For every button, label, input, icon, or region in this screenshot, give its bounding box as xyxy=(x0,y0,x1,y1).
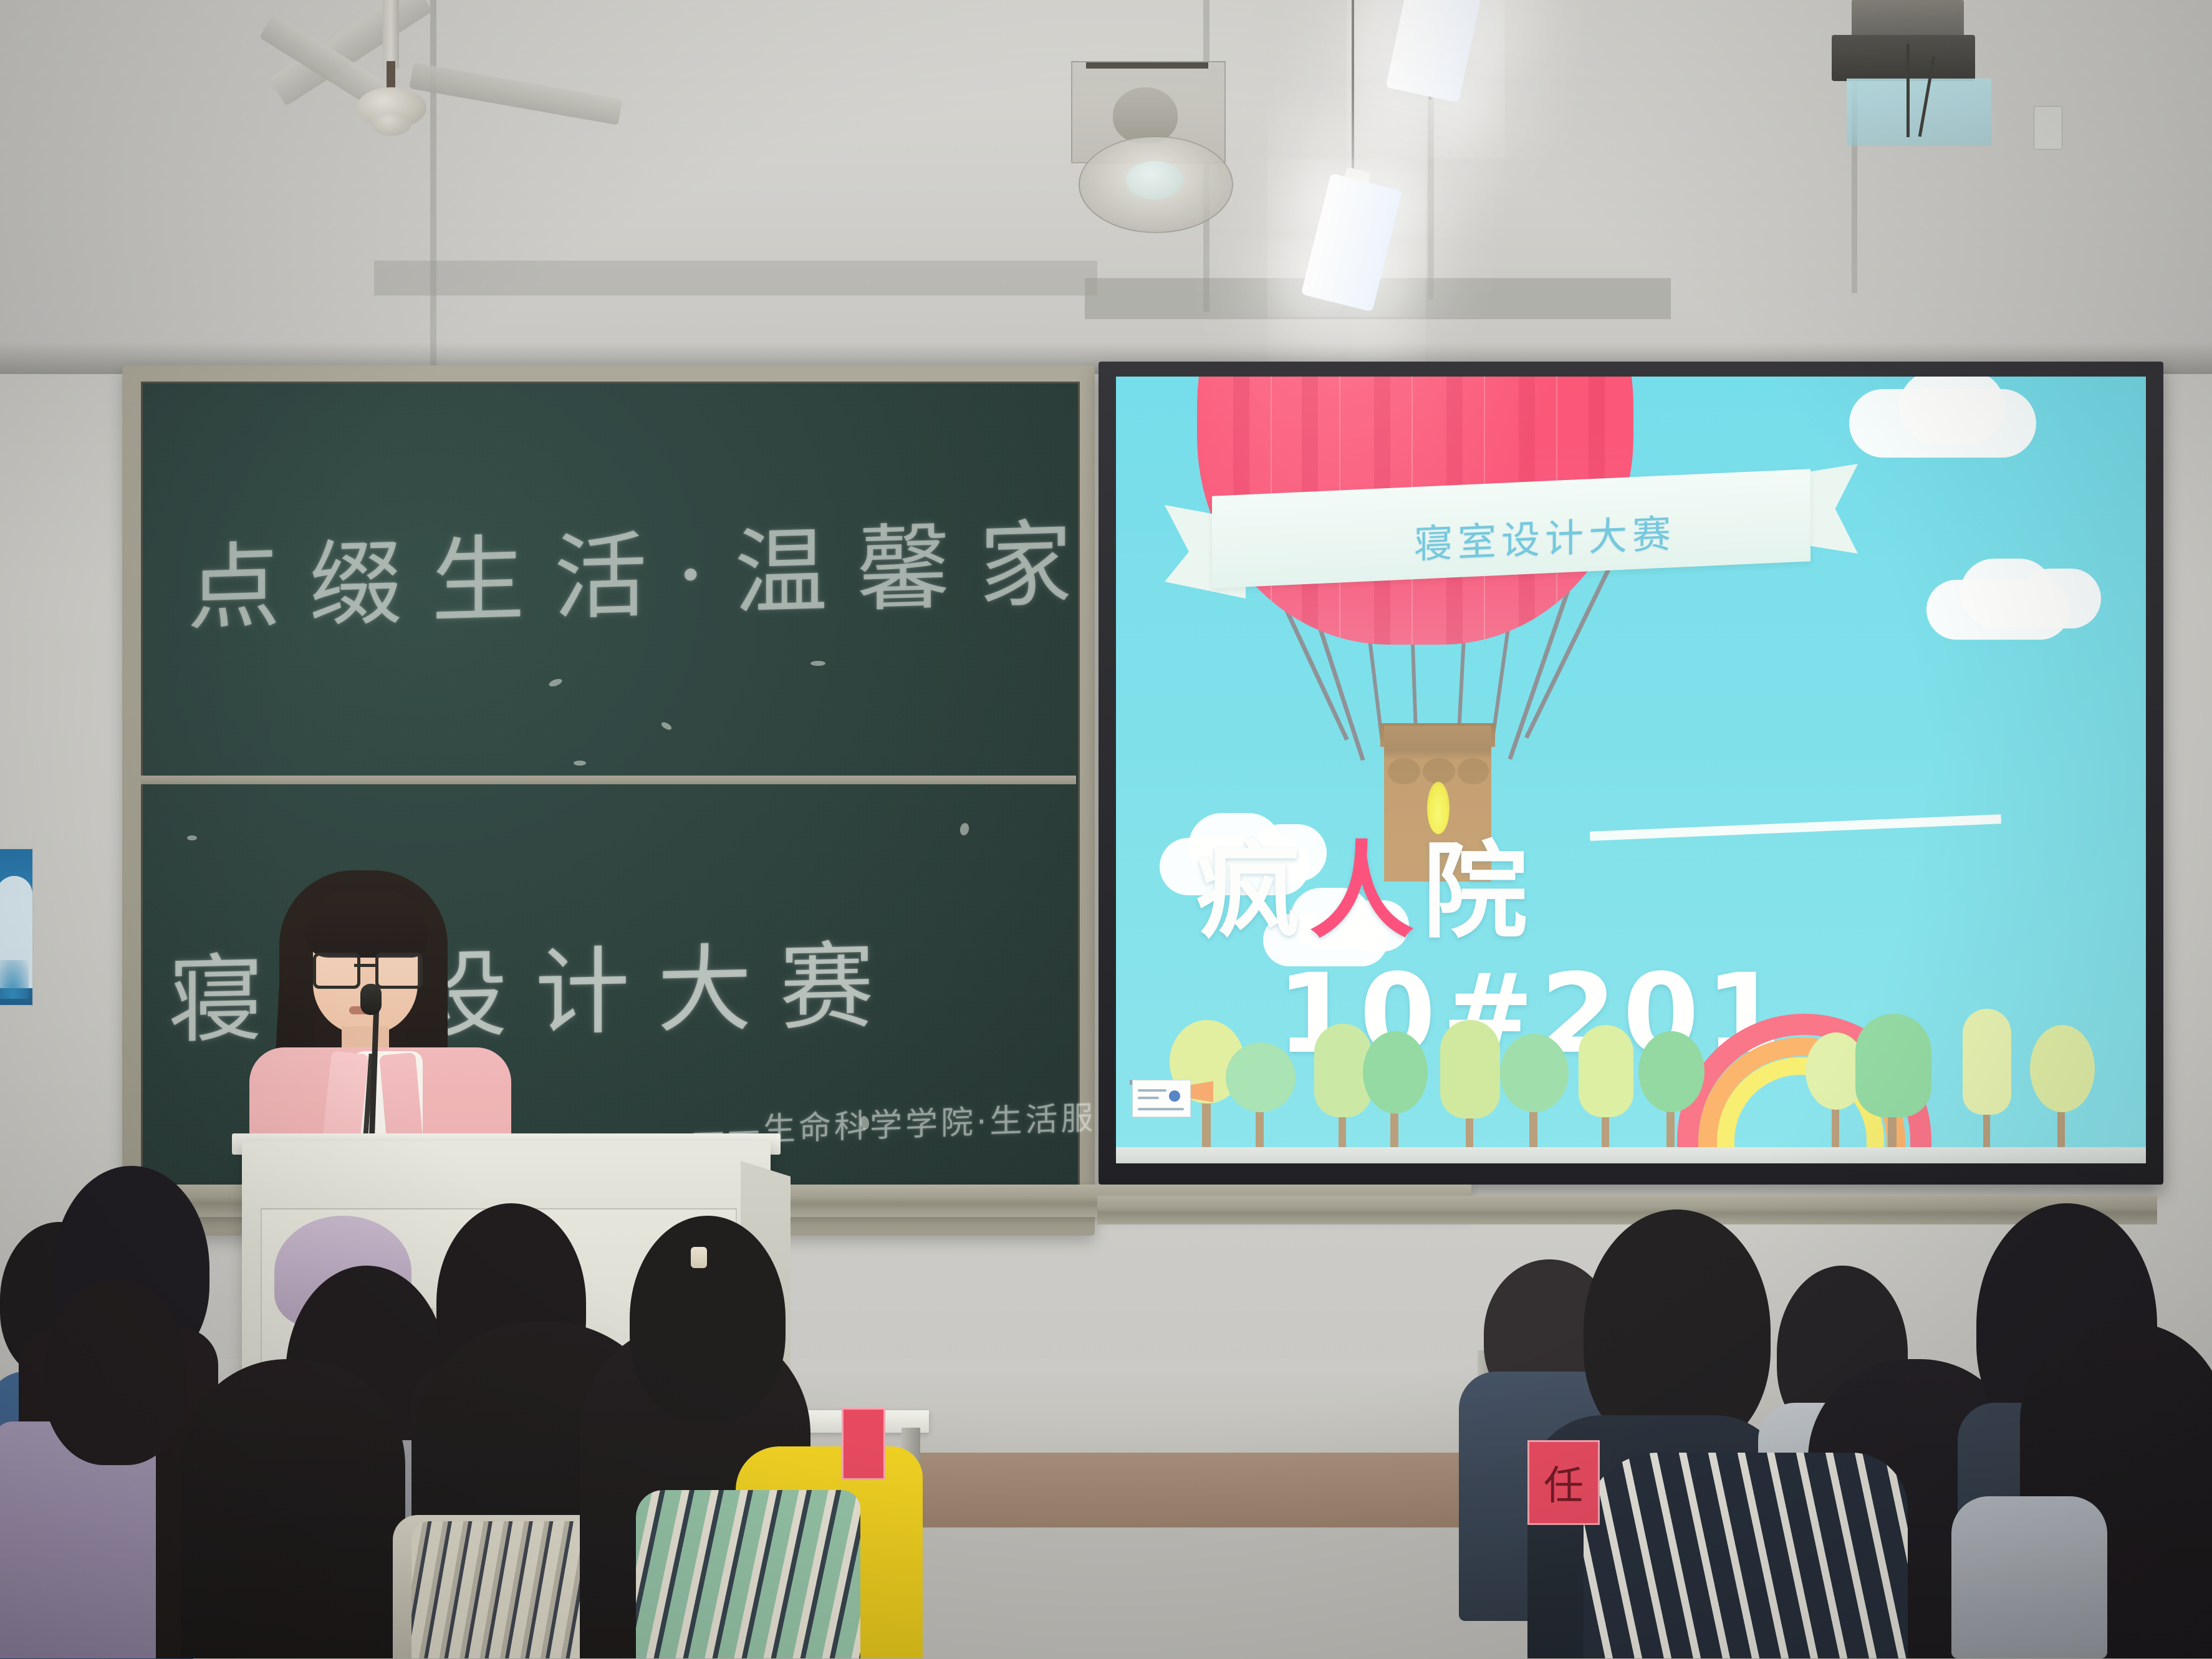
audience-body xyxy=(636,1490,860,1658)
light-switch[interactable] xyxy=(2034,106,2062,150)
tree xyxy=(1363,1030,1428,1147)
red-card[interactable]: 任 xyxy=(1527,1440,1600,1525)
projection-screen: 寝室设计大赛 疯人院 10#201 xyxy=(1116,377,2146,1163)
wall-fan-bracket xyxy=(1086,62,1208,69)
audience-head xyxy=(181,1359,405,1658)
fan-rod xyxy=(383,0,399,69)
audience-body xyxy=(1584,1453,1908,1658)
speaker-fringe xyxy=(305,890,428,958)
ceiling-beam-horizontal xyxy=(374,261,1097,296)
wall-fan-motor xyxy=(1113,87,1178,143)
tree xyxy=(2030,1025,2095,1147)
projector-bracket xyxy=(1852,0,1964,39)
classroom-photo: 点缀生活·温馨家园 寝室设计大赛 ——生命科学学院·生活服务部 xyxy=(0,0,2212,1659)
fan-hub-inner xyxy=(372,112,411,136)
red-card xyxy=(842,1408,885,1480)
tree xyxy=(1963,1011,2011,1147)
audience-head xyxy=(44,1278,187,1465)
microphone-icon xyxy=(360,984,382,1015)
chalk-dust xyxy=(574,761,586,766)
tree xyxy=(1579,1024,1633,1147)
wall-fan-hub xyxy=(1126,161,1183,200)
tree xyxy=(1226,1041,1296,1147)
slide-title-accent: 人 xyxy=(1309,830,1423,953)
blackboard-divider xyxy=(141,776,1076,784)
slide-banner: 寝室设计大赛 xyxy=(1165,471,1850,584)
ceiling-beam xyxy=(430,0,436,387)
projector-body xyxy=(1832,35,1975,81)
announcement-card xyxy=(1132,1080,1191,1117)
hair-clip xyxy=(691,1247,707,1268)
tree xyxy=(1638,1031,1705,1147)
tree xyxy=(1855,1014,1931,1147)
chalk-tray-right xyxy=(1097,1196,2157,1224)
tree xyxy=(1500,1031,1569,1147)
tree xyxy=(1440,1019,1500,1147)
slide-title-part3: 院 xyxy=(1423,830,1536,953)
poster-figure xyxy=(0,960,29,999)
chalk-dust xyxy=(810,661,825,666)
slide-ground xyxy=(1116,1147,2146,1163)
audience-body xyxy=(1951,1496,2107,1658)
glasses-icon xyxy=(313,953,416,983)
blackboard-headline: 点缀生活·温馨家园 xyxy=(187,484,1223,648)
slide-title-part1: 疯 xyxy=(1196,830,1309,953)
audience-head xyxy=(630,1216,786,1421)
chalk-dust xyxy=(187,835,197,840)
projector-cable xyxy=(1907,44,1910,137)
slide-title: 疯人院 xyxy=(1196,807,1536,958)
